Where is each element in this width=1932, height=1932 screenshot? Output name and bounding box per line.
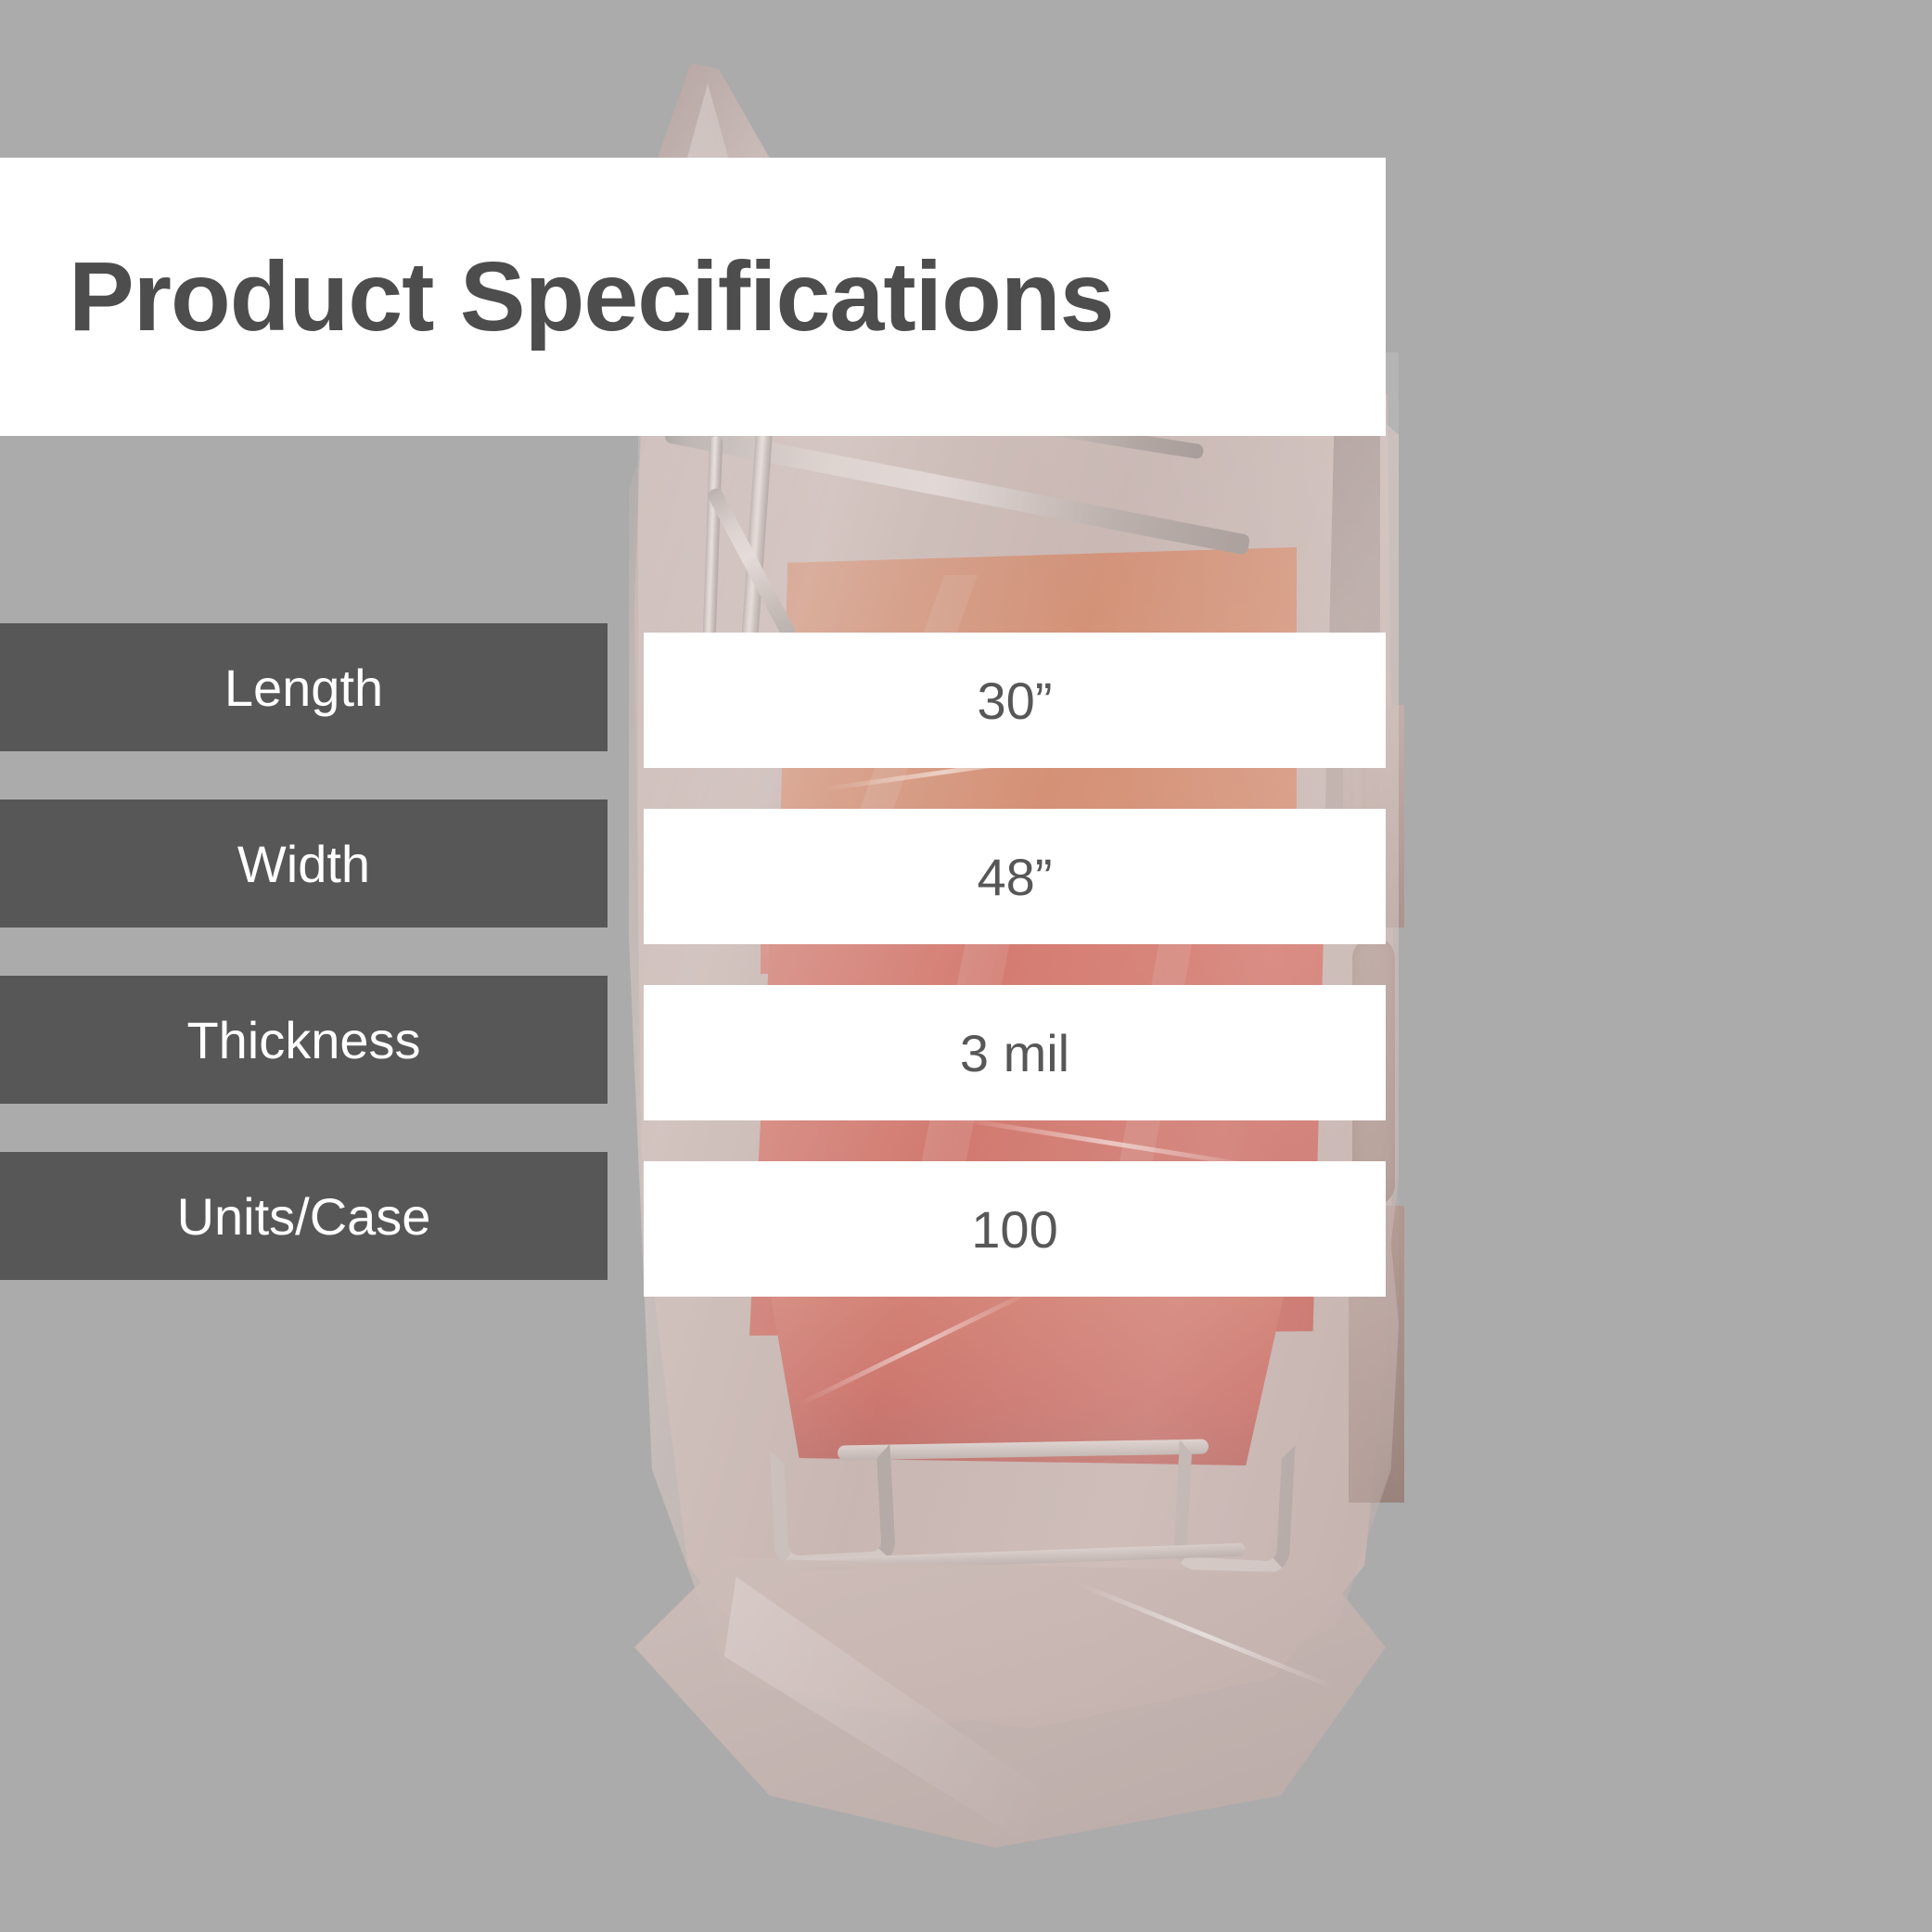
title-card: Product Specifications (0, 158, 1386, 436)
spec-label-units-per-case: Units/Case (0, 1152, 608, 1280)
specifications-table: Length 30” Width 48” Thickness 3 mil (0, 623, 1386, 1328)
spec-label-length: Length (0, 623, 608, 751)
table-row: Width 48” (0, 800, 1386, 976)
spec-label-width: Width (0, 800, 608, 928)
table-row: Units/Case 100 (0, 1152, 1386, 1328)
table-row: Thickness 3 mil (0, 976, 1386, 1152)
spec-label-text: Length (224, 658, 383, 718)
product-specifications-graphic: Product Specifications Length 30” Width … (0, 0, 1932, 1932)
spec-label-text: Units/Case (177, 1186, 431, 1247)
spec-label-thickness: Thickness (0, 976, 608, 1104)
spec-label-text: Width (237, 834, 370, 894)
page-title: Product Specifications (69, 241, 1114, 353)
spec-value-text: 30” (978, 671, 1053, 731)
spec-value-text: 48” (978, 847, 1053, 907)
spec-value-width: 48” (644, 809, 1386, 944)
spec-value-text: 3 mil (960, 1023, 1069, 1083)
table-row: Length 30” (0, 623, 1386, 800)
spec-label-text: Thickness (186, 1010, 420, 1070)
spec-value-thickness: 3 mil (644, 985, 1386, 1120)
spec-value-length: 30” (644, 633, 1386, 768)
spec-value-units-per-case: 100 (644, 1161, 1386, 1297)
spec-value-text: 100 (971, 1199, 1057, 1260)
